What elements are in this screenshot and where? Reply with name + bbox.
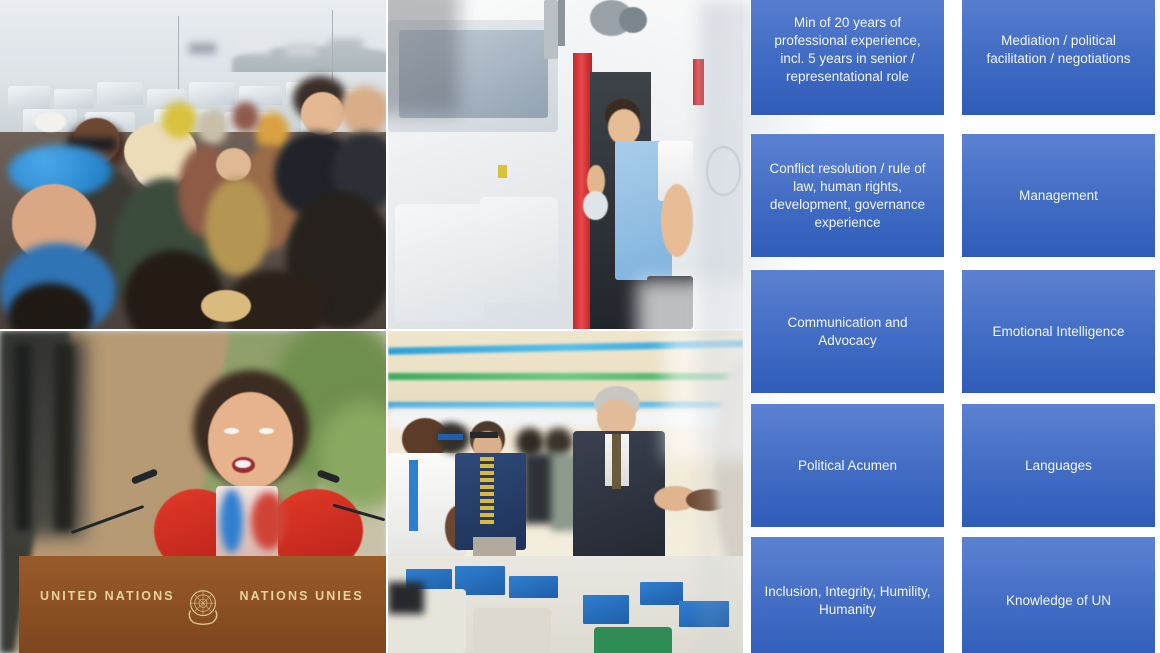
photo-helicopter-boarding <box>388 0 743 329</box>
competency-box-management[interactable]: Management <box>962 134 1155 257</box>
photo-podium-speech: UNITED NATIONS NATIONS UNIES <box>0 331 386 653</box>
competency-box-conflict-resolution[interactable]: Conflict resolution / rule of law, human… <box>751 134 944 257</box>
competency-box-label: Conflict resolution / rule of law, human… <box>761 160 934 232</box>
competency-box-grid: Min of 20 years of professional experien… <box>751 0 1156 653</box>
photo-collage: UNITED NATIONS NATIONS UNIES <box>0 0 744 653</box>
photo-refugee-camp-visit <box>0 0 386 329</box>
podium-text-right: NATIONS UNIES <box>19 589 386 603</box>
competency-box-communication[interactable]: Communication and Advocacy <box>751 270 944 393</box>
competency-box-label: Mediation / political facilitation / neg… <box>972 32 1145 68</box>
competency-box-label: Languages <box>1025 457 1092 475</box>
competency-box-label: Management <box>1019 187 1098 205</box>
photo-field-visit-handshake <box>388 331 743 653</box>
competency-box-label: Communication and Advocacy <box>761 314 934 350</box>
competency-box-languages[interactable]: Languages <box>962 404 1155 527</box>
un-podium: UNITED NATIONS NATIONS UNIES <box>19 556 386 653</box>
competency-box-experience[interactable]: Min of 20 years of professional experien… <box>751 0 944 115</box>
competency-box-inclusion-integrity[interactable]: Inclusion, Integrity, Humility, Humanity <box>751 537 944 653</box>
competency-box-mediation[interactable]: Mediation / political facilitation / neg… <box>962 0 1155 115</box>
competency-box-knowledge-of-un[interactable]: Knowledge of UN <box>962 537 1155 653</box>
competency-box-label: Knowledge of UN <box>1006 592 1111 610</box>
competency-box-label: Inclusion, Integrity, Humility, Humanity <box>761 583 934 619</box>
slide-root: UNITED NATIONS NATIONS UNIES <box>0 0 1160 653</box>
competency-box-political-acumen[interactable]: Political Acumen <box>751 404 944 527</box>
competency-box-label: Emotional Intelligence <box>992 323 1124 341</box>
competency-box-label: Min of 20 years of professional experien… <box>761 14 934 86</box>
competency-box-emotional-intelligence[interactable]: Emotional Intelligence <box>962 270 1155 393</box>
competency-box-label: Political Acumen <box>798 457 897 475</box>
